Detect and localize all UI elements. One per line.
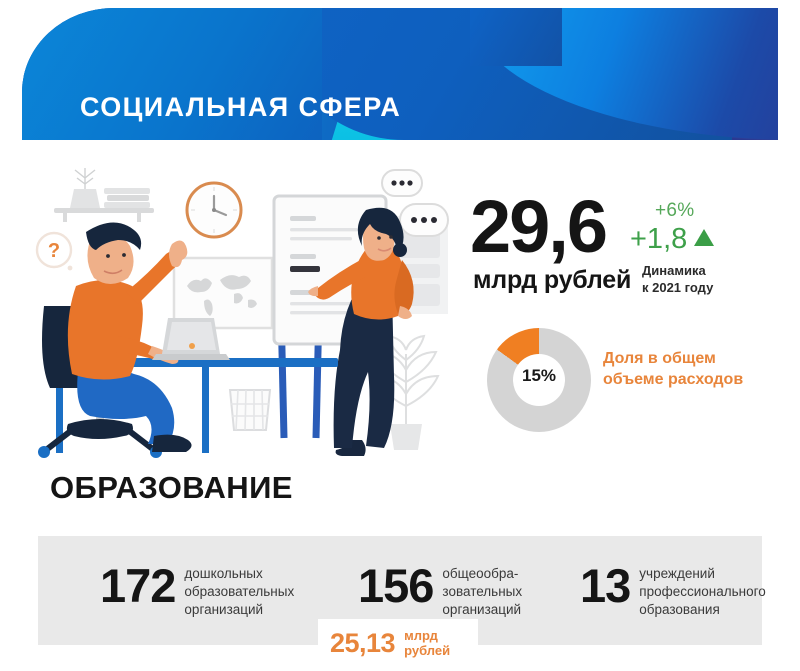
header-banner: СОЦИАЛЬНАЯ СФЕРА <box>22 8 778 140</box>
percent-change: +6% <box>655 200 694 222</box>
page-title: СОЦИАЛЬНАЯ СФЕРА <box>80 92 401 123</box>
stat-number: 13 <box>580 562 630 609</box>
infographic-page: СОЦИАЛЬНАЯ СФЕРА ? <box>0 0 800 671</box>
question-bubble: ? <box>37 233 72 270</box>
illustration-svg: ? <box>34 158 464 458</box>
callout-number: 25,13 <box>330 628 395 659</box>
stat-item: 156 общеообра- зовательных организаций <box>358 562 522 619</box>
share-donut-chart: 15% <box>487 328 591 432</box>
stat-text: общеообра- зовательных организаций <box>442 565 522 619</box>
dynamics-line-1: Динамика <box>642 262 713 279</box>
stat-number: 172 <box>100 562 175 609</box>
stat-text: учреждений профессионального образования <box>639 565 765 619</box>
section-title: ОБРАЗОВАНИЕ <box>50 470 293 506</box>
callout-unit: млрд рублей <box>404 628 450 658</box>
dots-bubble-large <box>400 204 448 236</box>
absolute-change: +1,8 <box>630 223 687 255</box>
banner-notch <box>470 8 562 66</box>
callout-unit-line-2: рублей <box>404 643 450 658</box>
stat-number: 156 <box>358 562 433 609</box>
wall-clock <box>187 183 241 237</box>
callout-unit-line-1: млрд <box>404 628 450 643</box>
stat-text: дошкольных образовательных организаций <box>184 565 294 619</box>
stat-item: 13 учреждений профессионального образова… <box>580 562 766 619</box>
svg-text:?: ? <box>48 240 60 262</box>
waste-basket <box>230 390 270 430</box>
stat-item: 172 дошкольных образовательных организац… <box>100 562 294 619</box>
budget-unit: млрд рублей <box>473 266 631 295</box>
share-caption-line-2: объеме расходов <box>603 369 743 390</box>
absolute-change-row: +1,8 <box>630 223 714 256</box>
world-map-frame <box>174 258 272 328</box>
education-budget-callout: 25,13 млрд рублей <box>318 619 478 667</box>
dynamics-line-2: к 2021 году <box>642 279 713 296</box>
share-caption-line-1: Доля в общем <box>603 348 743 369</box>
classroom-illustration: ? <box>34 158 464 458</box>
shelf-group <box>54 168 154 222</box>
donut-value-label: 15% <box>487 366 591 386</box>
triangle-up-icon <box>694 229 714 246</box>
share-caption: Доля в общем объеме расходов <box>603 348 743 390</box>
dots-bubble-small <box>382 170 422 196</box>
budget-value: 29,6 <box>470 190 606 264</box>
dynamics-caption: Динамика к 2021 году <box>642 262 713 296</box>
